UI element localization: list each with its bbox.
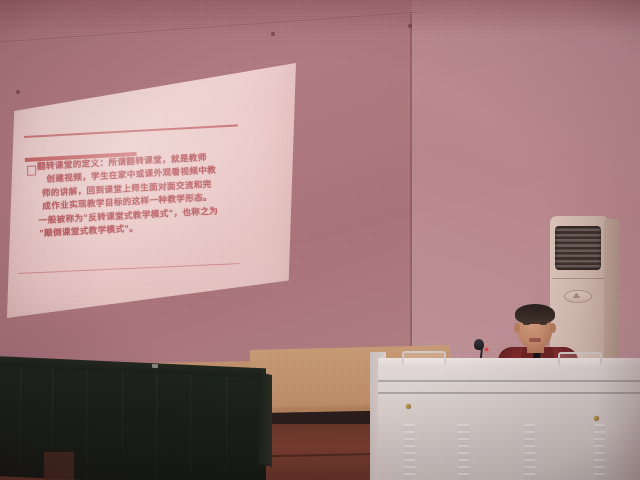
photograph-scene: 翻转课堂的定义：所谓翻转课堂，就是教师 创建视频，学生在家中或课外观看视频中教 … [0, 0, 640, 480]
presenter-ear-left [514, 323, 520, 333]
presenter-eye-right [540, 322, 547, 325]
microphone-icon [474, 339, 484, 350]
slide-content: 翻转课堂的定义：所谓翻转课堂，就是教师 创建视频，学生在家中或课外观看视频中教 … [24, 122, 278, 275]
presenter-ear-right [550, 323, 556, 333]
slide-bullet-square-icon [27, 165, 36, 175]
table-skirt [0, 366, 266, 480]
podium-right-shadow [596, 358, 640, 480]
podium-vent-slots [404, 424, 415, 480]
air-conditioner-panel-seam [552, 278, 604, 279]
wall-fixing-nail [408, 24, 412, 28]
binder-clip-icon [152, 364, 158, 368]
projection-screen: 翻转课堂的定义：所谓翻转课堂，就是教师 创建视频，学生在家中或课外观看视频中教 … [4, 24, 296, 324]
podium-vent-slots [458, 424, 469, 480]
table-leg [44, 452, 74, 480]
podium-lock-knob[interactable] [406, 404, 411, 409]
microphone-status-led [485, 348, 488, 351]
podium-drawer-handle[interactable] [402, 351, 446, 364]
podium-vent-slots [524, 424, 535, 480]
table-side-panel [258, 372, 272, 467]
presenter-hair [515, 304, 555, 324]
wall-seam-vertical [410, 14, 412, 364]
presenter-eye-left [523, 322, 530, 325]
presenter-mouth [529, 338, 541, 342]
air-conditioner-side-panel [604, 219, 620, 368]
air-conditioner-grille-icon [555, 226, 601, 270]
slide-body-text: 翻转课堂的定义：所谓翻转课堂，就是教师 创建视频，学生在家中或课外观看视频中教 … [37, 149, 269, 242]
